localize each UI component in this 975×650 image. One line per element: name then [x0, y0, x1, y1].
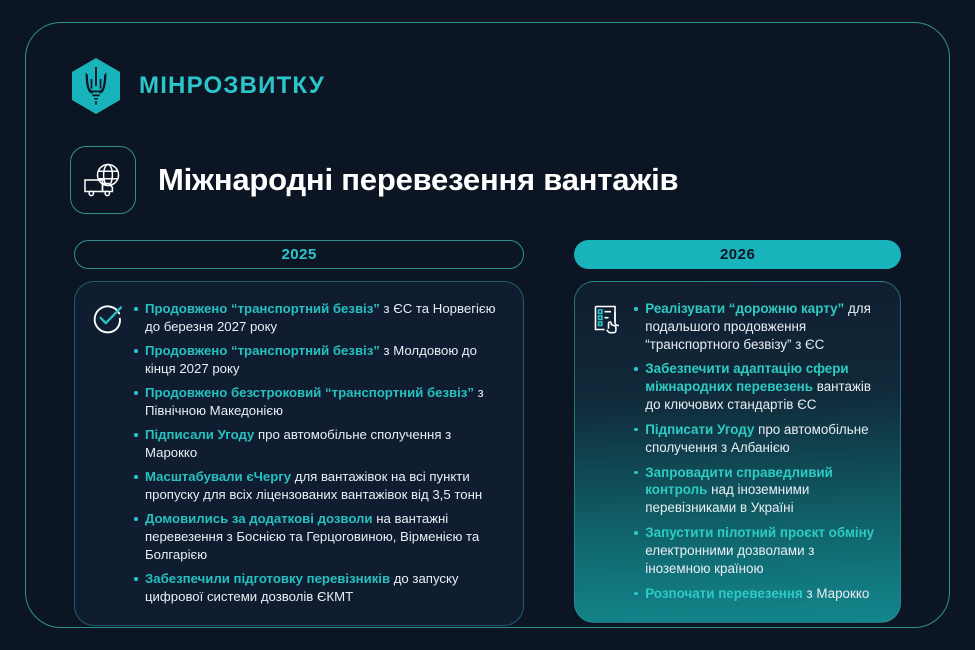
bullet-highlight: Забезпечили підготовку перевізників [145, 571, 390, 586]
slide-canvas: МІНРОЗВИТКУ Міжнародні перевезення ванта… [0, 0, 975, 650]
bullet-highlight: Реалізувати “дорожню карту” [645, 301, 844, 316]
brand-header: МІНРОЗВИТКУ [70, 57, 325, 115]
bullet-highlight: Запустити пілотний проєкт обміну [645, 525, 874, 540]
bullet-item: Продовжено “транспортний безвіз” з Молдо… [133, 342, 503, 377]
bullet-item: Підписали Угоду про автомобільне сполуче… [133, 426, 503, 461]
bullet-item: Запустити пілотний проєкт обміну електро… [633, 524, 880, 577]
bullet-highlight: Підписати Угоду [645, 422, 754, 437]
bullet-item: Розпочати перевезення з Марокко [633, 585, 880, 603]
bullet-item: Запровадити справедливий контроль над ін… [633, 464, 880, 517]
bullet-item: Масштабували єЧергу для вантажівок на вс… [133, 468, 503, 503]
bullet-text: електронними дозволами з іноземною країн… [645, 543, 814, 576]
checklist-hand-icon [591, 300, 623, 602]
bullet-highlight: Продовжено “транспортний безвіз” [145, 343, 380, 358]
bullet-item: Забезпечити адаптацію сфери міжнародних … [633, 360, 880, 413]
bullet-item: Продовжено безстроковий “транспортний бе… [133, 384, 503, 419]
brand-name: МІНРОЗВИТКУ [139, 72, 325, 100]
bullet-item: Підписати Угоду про автомобільне сполуче… [633, 421, 880, 457]
page-title: Міжнародні перевезення вантажів [158, 162, 678, 198]
achievements-card-2025: Продовжено “транспортний безвіз” з ЄС та… [74, 281, 524, 626]
bullet-highlight: Продовжено безстроковий “транспортний бе… [145, 385, 474, 400]
column-2026: 2026 Реалізувати “дорожню карту” для под… [574, 240, 901, 623]
bullet-highlight: Підписали Угоду [145, 427, 254, 442]
page-title-row: Міжнародні перевезення вантажів [70, 146, 678, 214]
column-2025: 2025 Продовжено “транспортний безвіз” з … [74, 240, 524, 626]
bullet-highlight: Продовжено “транспортний безвіз” [145, 301, 380, 316]
bullet-highlight: Розпочати перевезення [645, 586, 803, 601]
year-columns: 2025 Продовжено “транспортний безвіз” з … [74, 240, 901, 626]
year-badge-2026: 2026 [574, 240, 901, 269]
bullet-item: Забезпечили підготовку перевізників до з… [133, 570, 503, 605]
check-circle-icon [91, 300, 123, 605]
bullet-highlight: Масштабували єЧергу [145, 469, 291, 484]
bullet-item: Домовились за додаткові дозволи на ванта… [133, 510, 503, 563]
plans-card-2026: Реалізувати “дорожню карту” для подальшо… [574, 281, 901, 623]
year-badge-2025: 2025 [74, 240, 524, 269]
bullet-list-2025: Продовжено “транспортний безвіз” з ЄС та… [133, 300, 503, 605]
bullet-item: Продовжено “транспортний безвіз” з ЄС та… [133, 300, 503, 335]
truck-globe-icon [70, 146, 136, 214]
bullet-item: Реалізувати “дорожню карту” для подальшо… [633, 300, 880, 353]
ukraine-trident-icon [70, 57, 122, 115]
bullet-text: з Марокко [803, 586, 870, 601]
bullet-highlight: Домовились за додаткові дозволи [145, 511, 373, 526]
bullet-list-2026: Реалізувати “дорожню карту” для подальшо… [633, 300, 880, 602]
